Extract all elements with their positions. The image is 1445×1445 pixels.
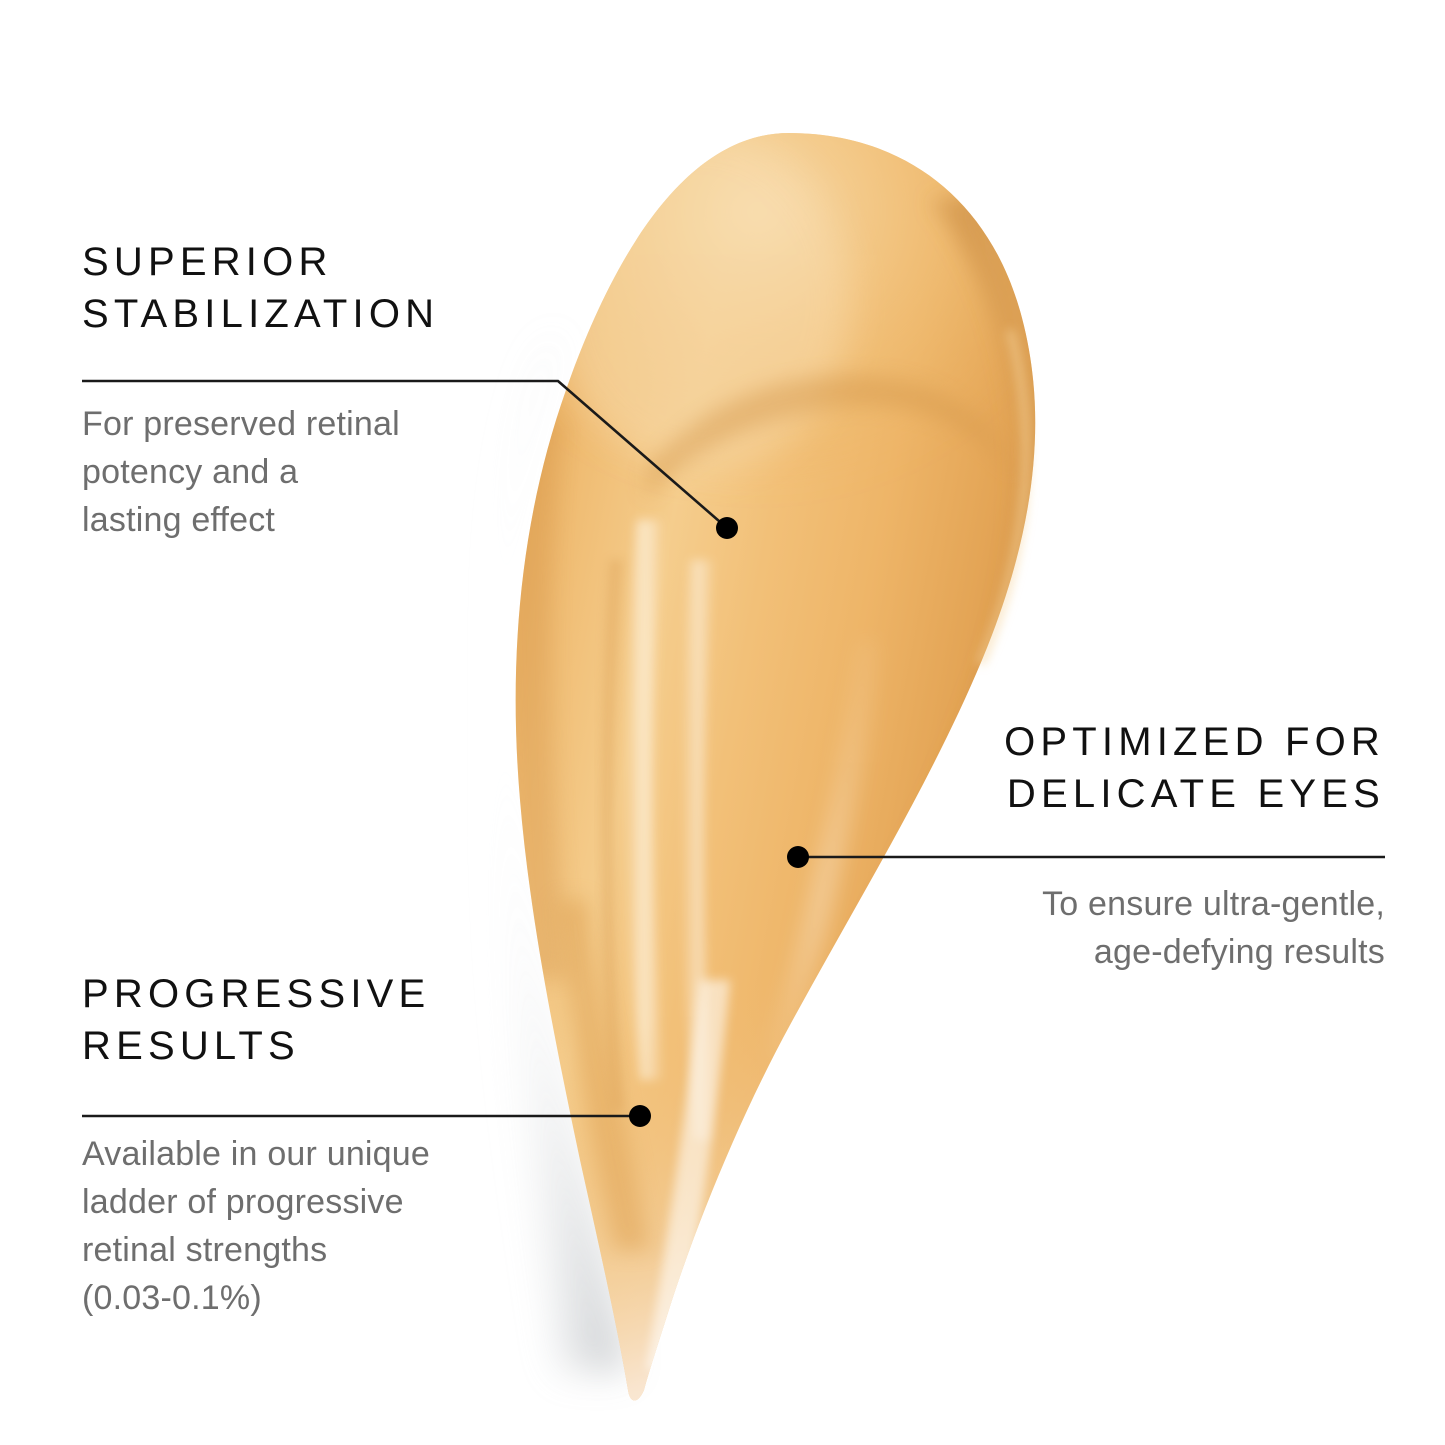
callout-body-superior-stabilization: For preserved retinal potency and a last…: [82, 400, 602, 544]
callout-body-progressive-results: Available in our unique ladder of progre…: [82, 1130, 602, 1322]
callout-body-optimized-delicate-eyes: To ensure ultra-gentle, age-defying resu…: [845, 880, 1385, 976]
callout-optimized-delicate-eyes: OPTIMIZED FOR DELICATE EYES To ensure ul…: [845, 716, 1385, 976]
callout-progressive-results: PROGRESSIVE RESULTS Available in our uni…: [82, 968, 602, 1322]
callout-heading-progressive-results: PROGRESSIVE RESULTS: [82, 968, 602, 1072]
infographic-canvas: SUPERIOR STABILIZATION For preserved ret…: [0, 0, 1445, 1445]
callout-heading-optimized-delicate-eyes: OPTIMIZED FOR DELICATE EYES: [845, 716, 1385, 820]
callout-heading-superior-stabilization: SUPERIOR STABILIZATION: [82, 236, 602, 340]
callout-superior-stabilization: SUPERIOR STABILIZATION For preserved ret…: [82, 236, 602, 544]
